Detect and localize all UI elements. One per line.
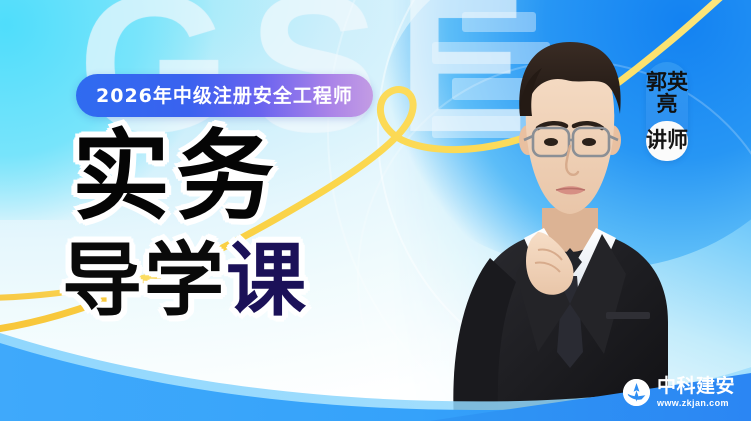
brand-logo[interactable]: 中科建安 www.zkjan.com (623, 377, 735, 408)
instructor-badge: 郭英亮 讲师 (646, 62, 688, 161)
brand-name-cn: 中科建安 (657, 377, 735, 396)
course-title-sub-dark: 导学 (62, 234, 226, 327)
course-title-sub-navy: 课 (226, 234, 308, 327)
instructor-name: 郭英亮 (646, 72, 688, 121)
course-poster: GSE GSE (0, 0, 751, 421)
instructor-role: 讲师 (646, 121, 688, 161)
zkjan-circle-logo-icon (623, 379, 650, 406)
brand-website-url: www.zkjan.com (657, 399, 735, 408)
course-subtitle-badge: 2026年中级注册安全工程师 (76, 74, 373, 117)
course-title-sub: 导学课 (62, 243, 308, 320)
course-title-main: 实务 (72, 130, 280, 224)
brand-logo-text: 中科建安 www.zkjan.com (657, 377, 735, 408)
